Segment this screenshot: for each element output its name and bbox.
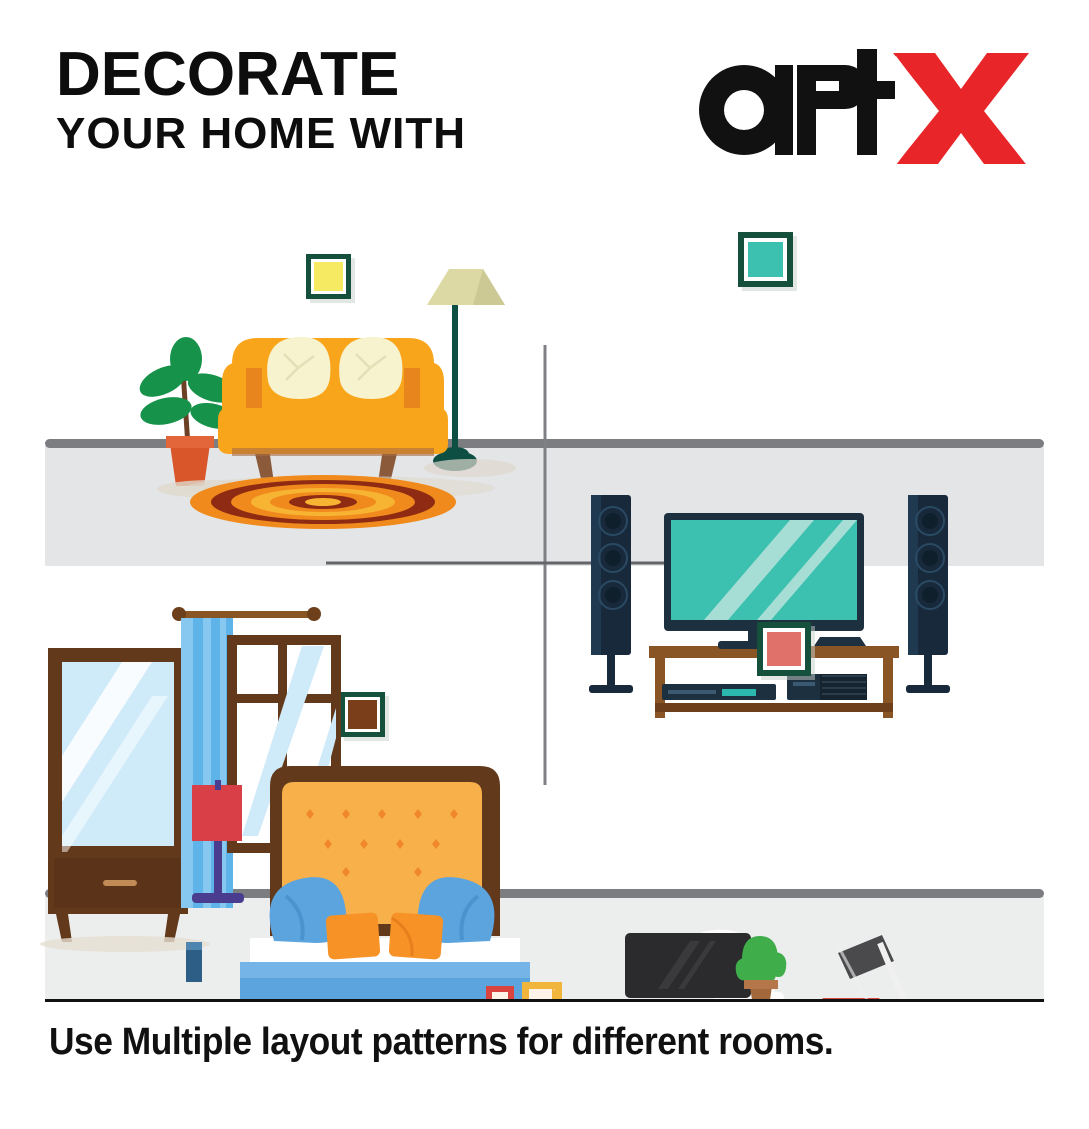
logo-letter-x	[888, 53, 1029, 164]
frame-art-living	[314, 262, 343, 291]
poster-canvas: DECORATE YOUR HOME WITH	[0, 0, 1089, 1129]
monitor	[625, 933, 751, 1002]
tower-speaker-left	[589, 495, 633, 693]
footer-caption: Use Multiple layout patterns for differe…	[49, 1021, 979, 1064]
logo-letter-r	[797, 65, 867, 155]
room-bedroom	[40, 607, 578, 1002]
wall-frame-office	[757, 622, 815, 680]
tower-speaker-right	[906, 495, 950, 693]
frame-art-bedroom	[348, 700, 377, 729]
frame-art-entertainment	[748, 242, 783, 277]
frame-art-office	[767, 632, 801, 666]
wall-frame-bedroom	[340, 692, 389, 741]
poster-header: DECORATE YOUR HOME WITH	[0, 0, 1089, 200]
media-indicator	[722, 689, 756, 696]
headline-line-1: DECORATE	[56, 46, 466, 105]
headline-line-2: YOUR HOME WITH	[56, 113, 466, 155]
wall-frame-living	[306, 254, 355, 303]
room-living-room	[135, 254, 516, 529]
logo-letter-a	[699, 65, 793, 155]
wall-frame-entertainment	[738, 232, 797, 291]
rooms-illustration	[0, 196, 1089, 1002]
round-rug-living	[190, 475, 456, 529]
page-title: DECORATE YOUR HOME WITH	[56, 46, 466, 155]
footer-divider	[45, 999, 1044, 1002]
media-box-top	[814, 637, 866, 646]
bed	[230, 766, 550, 1002]
artx-logo	[697, 44, 1047, 164]
